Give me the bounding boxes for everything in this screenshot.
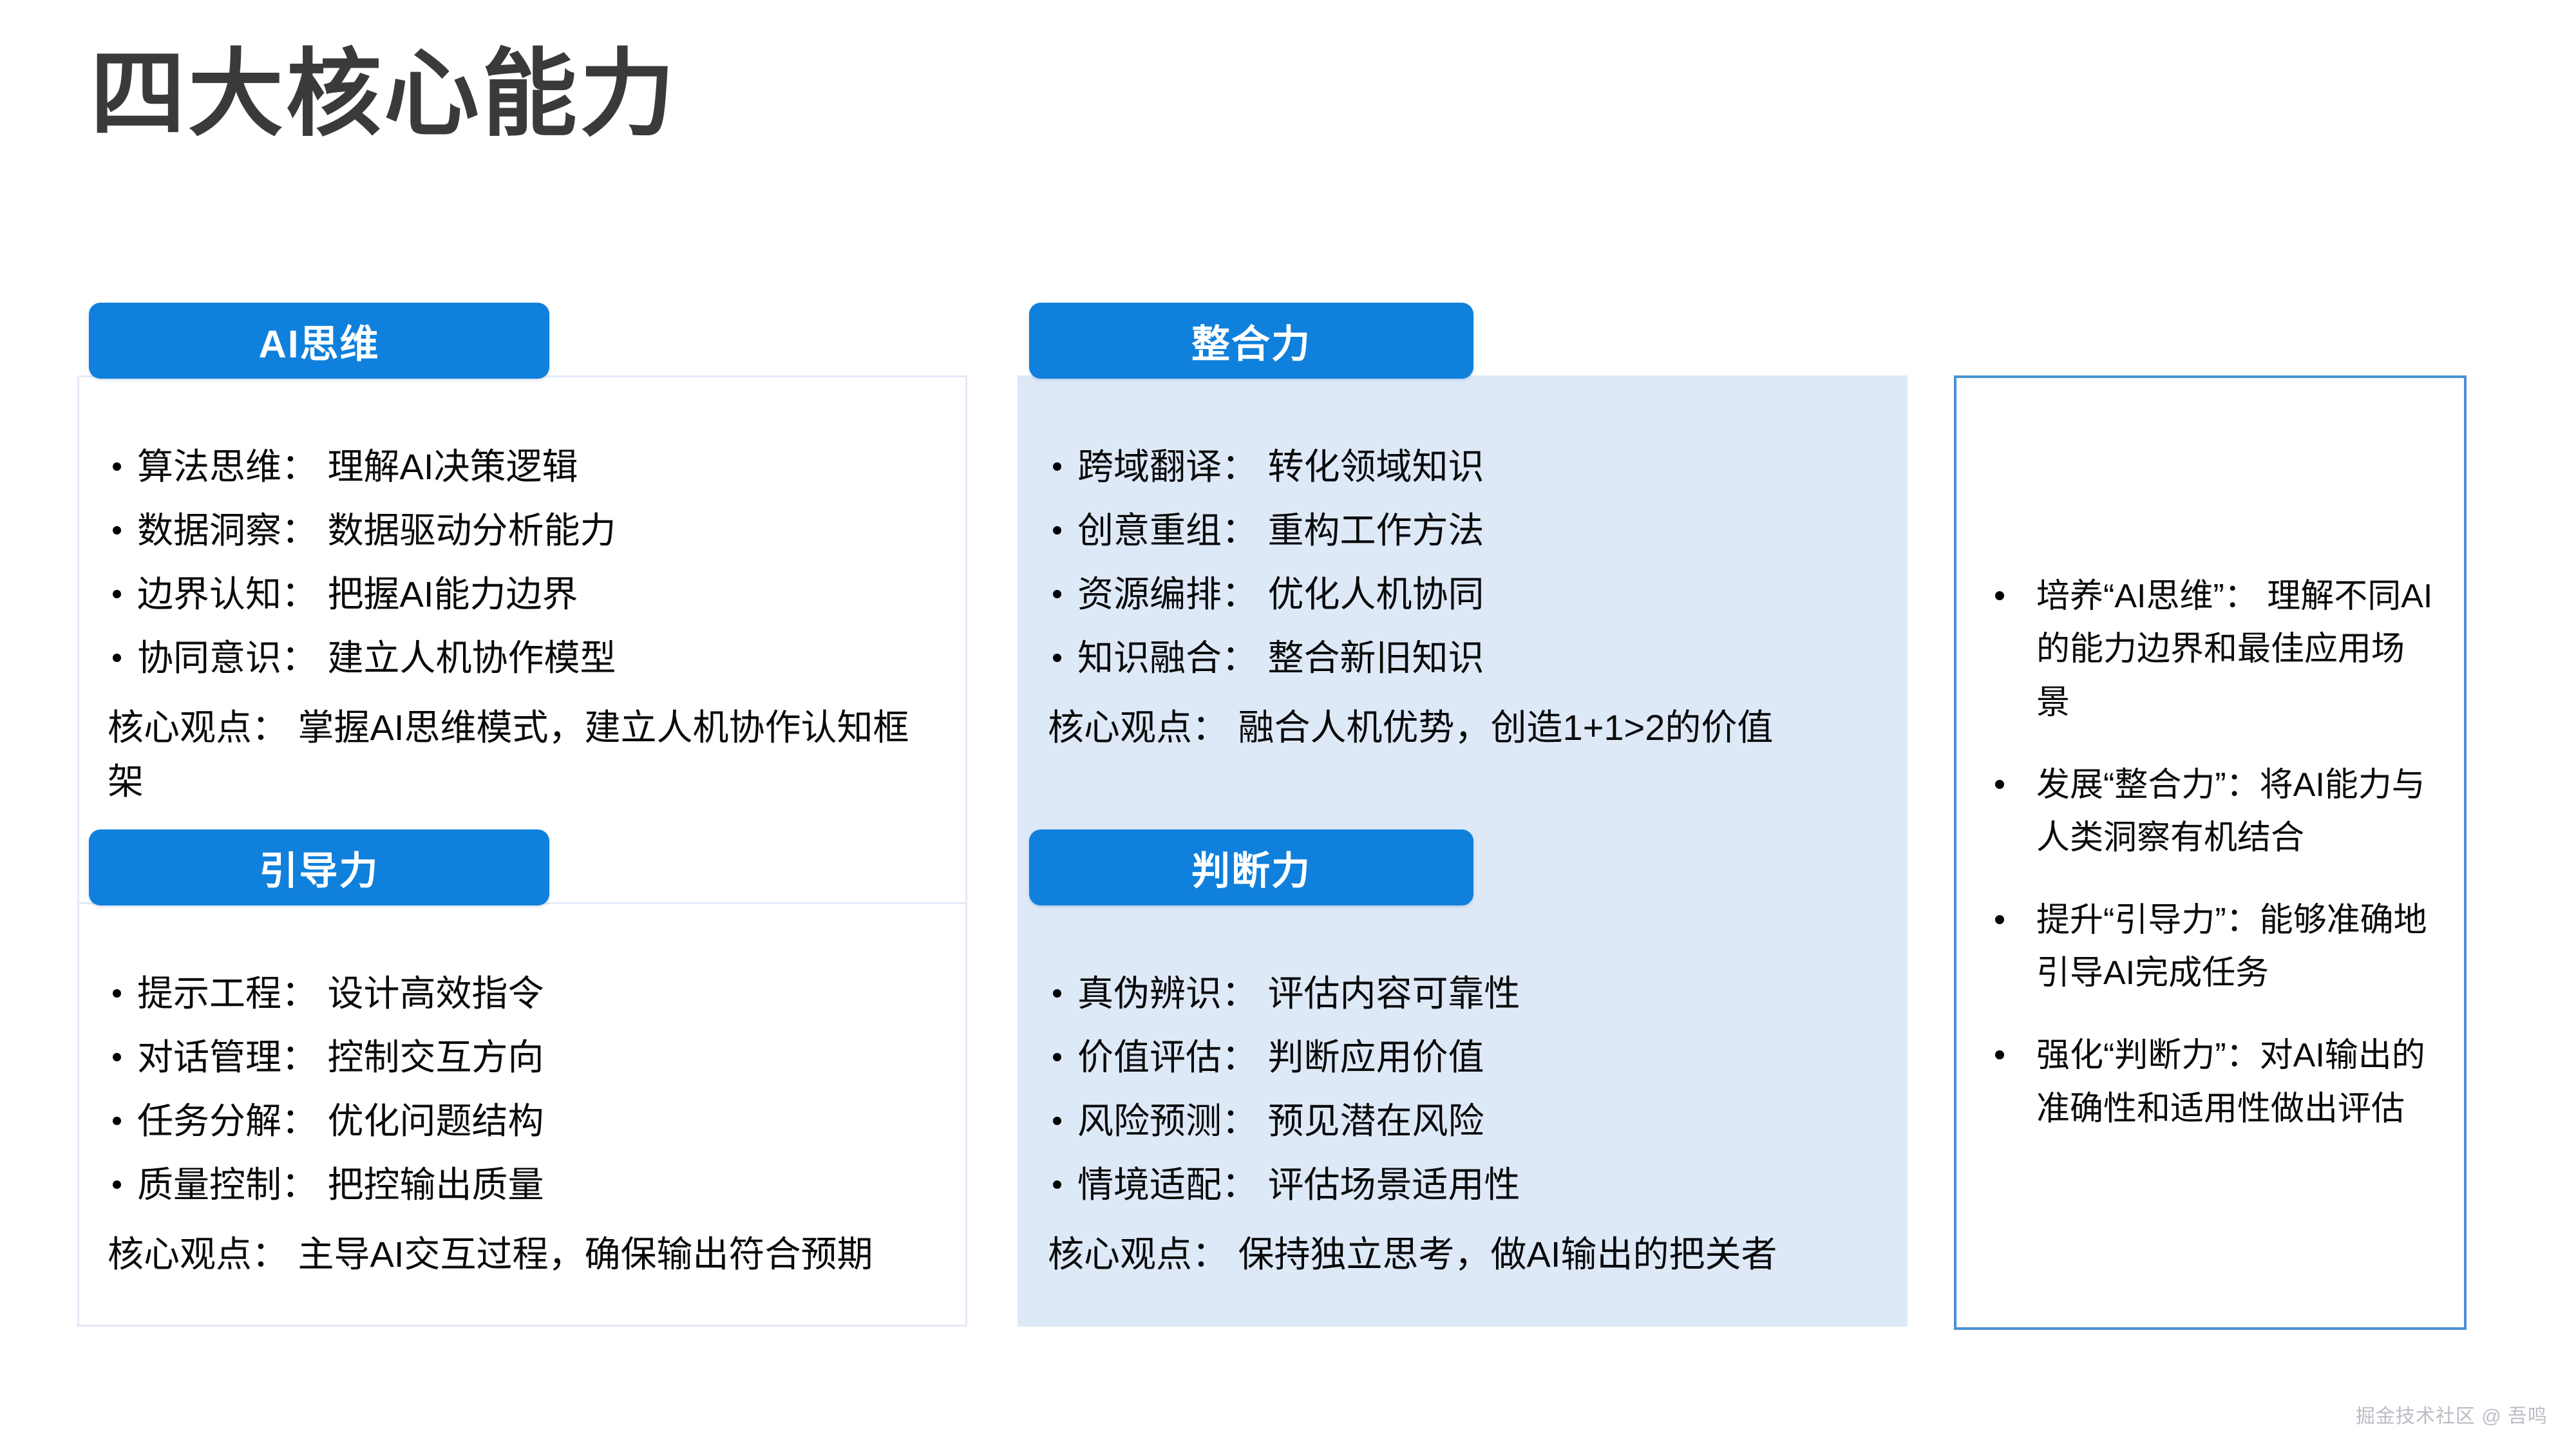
list-item: 价值评估： 判断应用价值	[1048, 1030, 1877, 1084]
bullet-list: 跨域翻译： 转化领域知识 创意重组： 重构工作方法 资源编排： 优化人机协同 知…	[1048, 439, 1877, 685]
list-item: 数据洞察： 数据驱动分析能力	[108, 503, 937, 558]
list-item: 创意重组： 重构工作方法	[1048, 503, 1877, 558]
core-point-text: 核心观点： 保持独立思考，做AI输出的把关者	[1048, 1227, 1877, 1282]
list-item: 培养“AI思维”： 理解不同AI的能力边界和最佳应用场景	[1990, 570, 2436, 728]
capability-card-guidance: 提示工程： 设计高效指令 对话管理： 控制交互方向 任务分解： 优化问题结构 质…	[77, 829, 967, 1327]
watermark: 掘金技术社区 @ 吾鸣	[2356, 1400, 2548, 1428]
list-item: 提升“引导力”：能够准确地引导AI完成任务	[1990, 894, 2436, 999]
card-badge-ai-thinking[interactable]: AI思维	[89, 303, 549, 379]
bullet-list: 真伪辨识： 评估内容可靠性 价值评估： 判断应用价值 风险预测： 预见潜在风险 …	[1048, 966, 1877, 1212]
card-body: 提示工程： 设计高效指令 对话管理： 控制交互方向 任务分解： 优化问题结构 质…	[77, 902, 967, 1327]
core-point-text: 核心观点： 融合人机优势，创造1+1>2的价值	[1048, 701, 1877, 755]
bullet-list: 算法思维： 理解AI决策逻辑 数据洞察： 数据驱动分析能力 边界认知： 把握AI…	[108, 439, 937, 685]
list-item: 边界认知： 把握AI能力边界	[108, 567, 937, 621]
core-point-text: 核心观点： 掌握AI思维模式，建立人机协作认知框架	[108, 701, 937, 809]
summary-list: 培养“AI思维”： 理解不同AI的能力边界和最佳应用场景 发展“整合力”：将AI…	[1956, 570, 2464, 1135]
list-item: 算法思维： 理解AI决策逻辑	[108, 439, 937, 494]
list-item: 资源编排： 优化人机协同	[1048, 567, 1877, 621]
list-item: 知识融合： 整合新旧知识	[1048, 630, 1877, 685]
list-item: 提示工程： 设计高效指令	[108, 966, 937, 1021]
summary-panel: 培养“AI思维”： 理解不同AI的能力边界和最佳应用场景 发展“整合力”：将AI…	[1954, 375, 2467, 1330]
list-item: 风险预测： 预见潜在风险	[1048, 1094, 1877, 1148]
list-item: 任务分解： 优化问题结构	[108, 1094, 937, 1148]
page-title: 四大核心能力	[90, 39, 677, 151]
list-item: 真伪辨识： 评估内容可靠性	[1048, 966, 1877, 1021]
capability-card-judgement: 真伪辨识： 评估内容可靠性 价值评估： 判断应用价值 风险预测： 预见潜在风险 …	[1018, 829, 1908, 1327]
card-badge-guidance[interactable]: 引导力	[89, 829, 549, 905]
card-badge-judgement[interactable]: 判断力	[1029, 829, 1473, 905]
list-item: 质量控制： 把控输出质量	[108, 1157, 937, 1212]
list-item: 强化“判断力”：对AI输出的准确性和适用性做出评估	[1990, 1029, 2436, 1135]
core-point-text: 核心观点： 主导AI交互过程，确保输出符合预期	[108, 1227, 937, 1282]
list-item: 协同意识： 建立人机协作模型	[108, 630, 937, 685]
bullet-list: 提示工程： 设计高效指令 对话管理： 控制交互方向 任务分解： 优化问题结构 质…	[108, 966, 937, 1212]
list-item: 情境适配： 评估场景适用性	[1048, 1157, 1877, 1212]
list-item: 跨域翻译： 转化领域知识	[1048, 439, 1877, 494]
list-item: 对话管理： 控制交互方向	[108, 1030, 937, 1084]
card-body: 真伪辨识： 评估内容可靠性 价值评估： 判断应用价值 风险预测： 预见潜在风险 …	[1018, 902, 1908, 1327]
list-item: 发展“整合力”：将AI能力与人类洞察有机结合	[1990, 759, 2436, 864]
card-badge-integration[interactable]: 整合力	[1029, 303, 1473, 379]
